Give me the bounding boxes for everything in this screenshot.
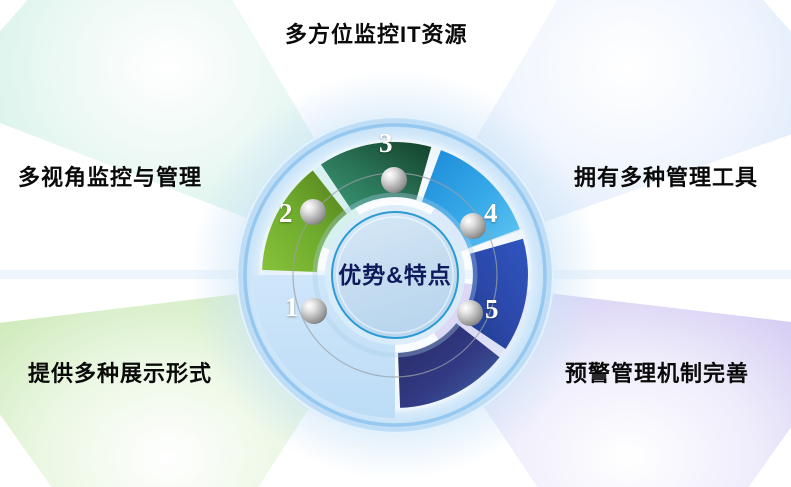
label-left-top: 多视角监控与管理 xyxy=(18,167,202,189)
hub-label-wrap: 优势&特点 xyxy=(330,256,460,290)
marker-ball-2[interactable] xyxy=(300,199,326,225)
label-right-top: 拥有多种管理工具 xyxy=(574,167,758,189)
marker-ball-1[interactable] xyxy=(301,298,327,324)
marker-ball-3[interactable] xyxy=(381,167,407,193)
label-right-bottom: 预警管理机制完善 xyxy=(565,363,749,385)
marker-ball-5[interactable] xyxy=(457,300,483,326)
wheel-layer xyxy=(0,0,791,487)
marker-ball-4[interactable] xyxy=(460,213,486,239)
infographic-canvas: 1 2 3 4 5 优势&特点 多方位监控IT资源 多视角监控与管理 提供多种展… xyxy=(0,0,791,487)
hub-label: 优势&特点 xyxy=(338,262,452,288)
label-top: 多方位监控IT资源 xyxy=(285,24,468,46)
label-left-bottom: 提供多种展示形式 xyxy=(28,363,212,385)
